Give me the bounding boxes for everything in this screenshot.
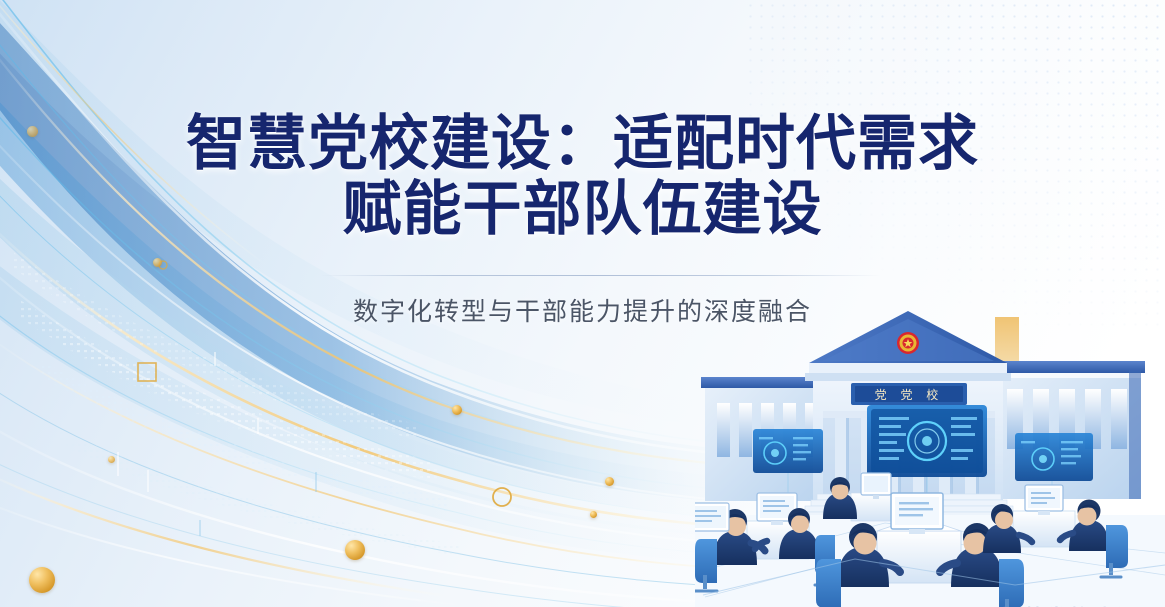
title-divider bbox=[320, 275, 880, 276]
gold-sphere bbox=[29, 567, 55, 593]
page-title-line1: 智慧党校建设：适配时代需求 bbox=[0, 112, 1165, 177]
watermark-text: 智慧党校建设 bbox=[1001, 602, 1139, 607]
page-subtitle: 数字化转型与干部能力提升的深度融合 bbox=[0, 292, 1165, 328]
gold-sphere bbox=[605, 477, 614, 486]
gold-sphere bbox=[452, 405, 462, 415]
workstation bbox=[695, 503, 729, 531]
page-title-line2: 赋能干部队伍建设 bbox=[0, 177, 1165, 241]
gold-sphere bbox=[345, 540, 365, 560]
presentation-slide: 智慧党校建设：适配时代需求 赋能干部队伍建设 数字化转型与干部能力提升的深度融合 bbox=[0, 0, 1165, 607]
gold-sphere bbox=[108, 456, 115, 463]
gold-sphere bbox=[153, 258, 162, 267]
building-sign-text: 党 党 校 bbox=[875, 387, 944, 402]
gold-sphere bbox=[590, 511, 597, 518]
title-block: 智慧党校建设：适配时代需求 赋能干部队伍建设 数字化转型与干部能力提升的深度融合 bbox=[0, 112, 1165, 241]
smart-party-school-illustration: 党 党 校 bbox=[695, 307, 1165, 607]
